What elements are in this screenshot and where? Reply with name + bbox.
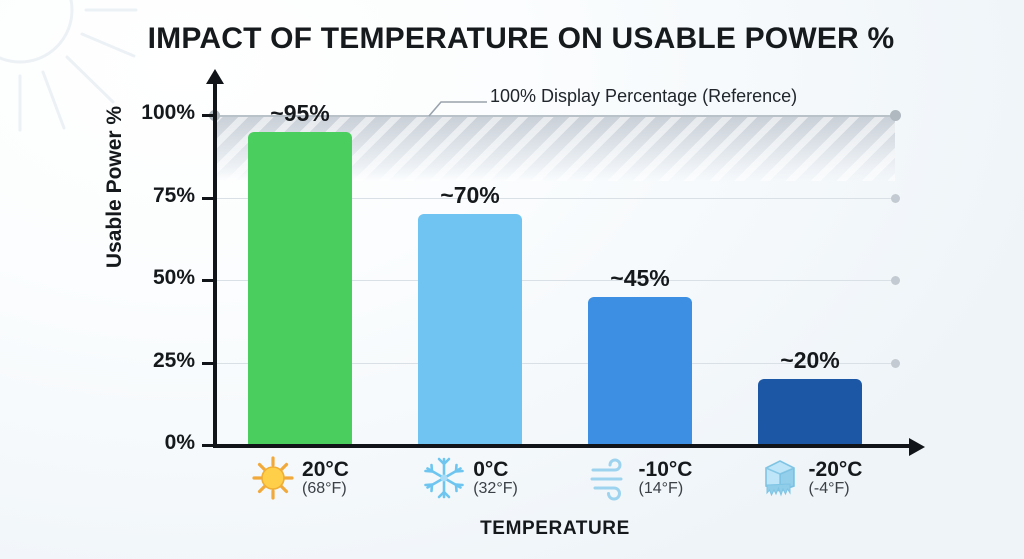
gridline-end-dot [890,110,901,121]
gridline-end-dot [891,194,900,203]
reference-annotation-label: 100% Display Percentage (Reference) [490,86,797,107]
y-tick-50 [202,279,213,282]
y-axis-line [213,82,217,446]
gridline-end-dot [891,359,900,368]
x-axis-arrow-icon [909,438,925,456]
chart-canvas: IMPACT OF TEMPERATURE ON USABLE POWER % … [0,0,1024,559]
x-category-celsius: -10°C [639,459,693,481]
bar-value-label: ~45% [610,265,669,292]
y-tick-label: 25% [90,349,195,373]
y-tick-100 [202,114,213,117]
x-axis-line [213,444,913,448]
bar[interactable] [588,297,692,446]
x-category-celsius: 20°C [302,459,349,481]
wind-icon [588,455,632,501]
chart-title: IMPACT OF TEMPERATURE ON USABLE POWER % [0,22,1024,56]
x-axis-title: TEMPERATURE [215,518,895,540]
bar-value-label: ~70% [440,182,499,209]
x-category-fahrenheit: (32°F) [473,481,518,498]
x-category-celsius: 0°C [473,459,518,481]
x-category-4[interactable]: -20°C(-4°F) [715,455,905,501]
sun-icon [251,455,295,501]
bar-value-label: ~95% [270,100,329,127]
bar-value-label: ~20% [780,347,839,374]
snowflake-icon [422,455,466,501]
y-tick-label: 75% [90,184,195,208]
x-category-fahrenheit: (68°F) [302,481,349,498]
x-category-text: 20°C(68°F) [302,459,349,498]
y-tick-label: 100% [90,101,195,125]
y-tick-0 [202,444,213,447]
bar[interactable] [248,132,352,446]
ice-cube-icon [758,455,802,501]
bar[interactable] [418,214,522,445]
x-category-fahrenheit: (-4°F) [809,481,863,498]
x-category-fahrenheit: (14°F) [639,481,693,498]
y-axis-arrow-icon [206,69,224,84]
y-tick-label: 0% [90,431,195,455]
plot-area: ~95%~70%~45%~20% [215,115,895,445]
y-tick-25 [202,362,213,365]
y-tick-75 [202,197,213,200]
bar[interactable] [758,379,862,445]
x-category-text: -20°C(-4°F) [809,459,863,498]
x-category-text: -10°C(14°F) [639,459,693,498]
gridline-end-dot [891,276,900,285]
x-category-1[interactable]: 20°C(68°F) [205,455,395,501]
y-tick-label: 50% [90,266,195,290]
x-category-3[interactable]: -10°C(14°F) [545,455,735,501]
x-category-celsius: -20°C [809,459,863,481]
x-category-2[interactable]: 0°C(32°F) [375,455,565,501]
x-category-text: 0°C(32°F) [473,459,518,498]
